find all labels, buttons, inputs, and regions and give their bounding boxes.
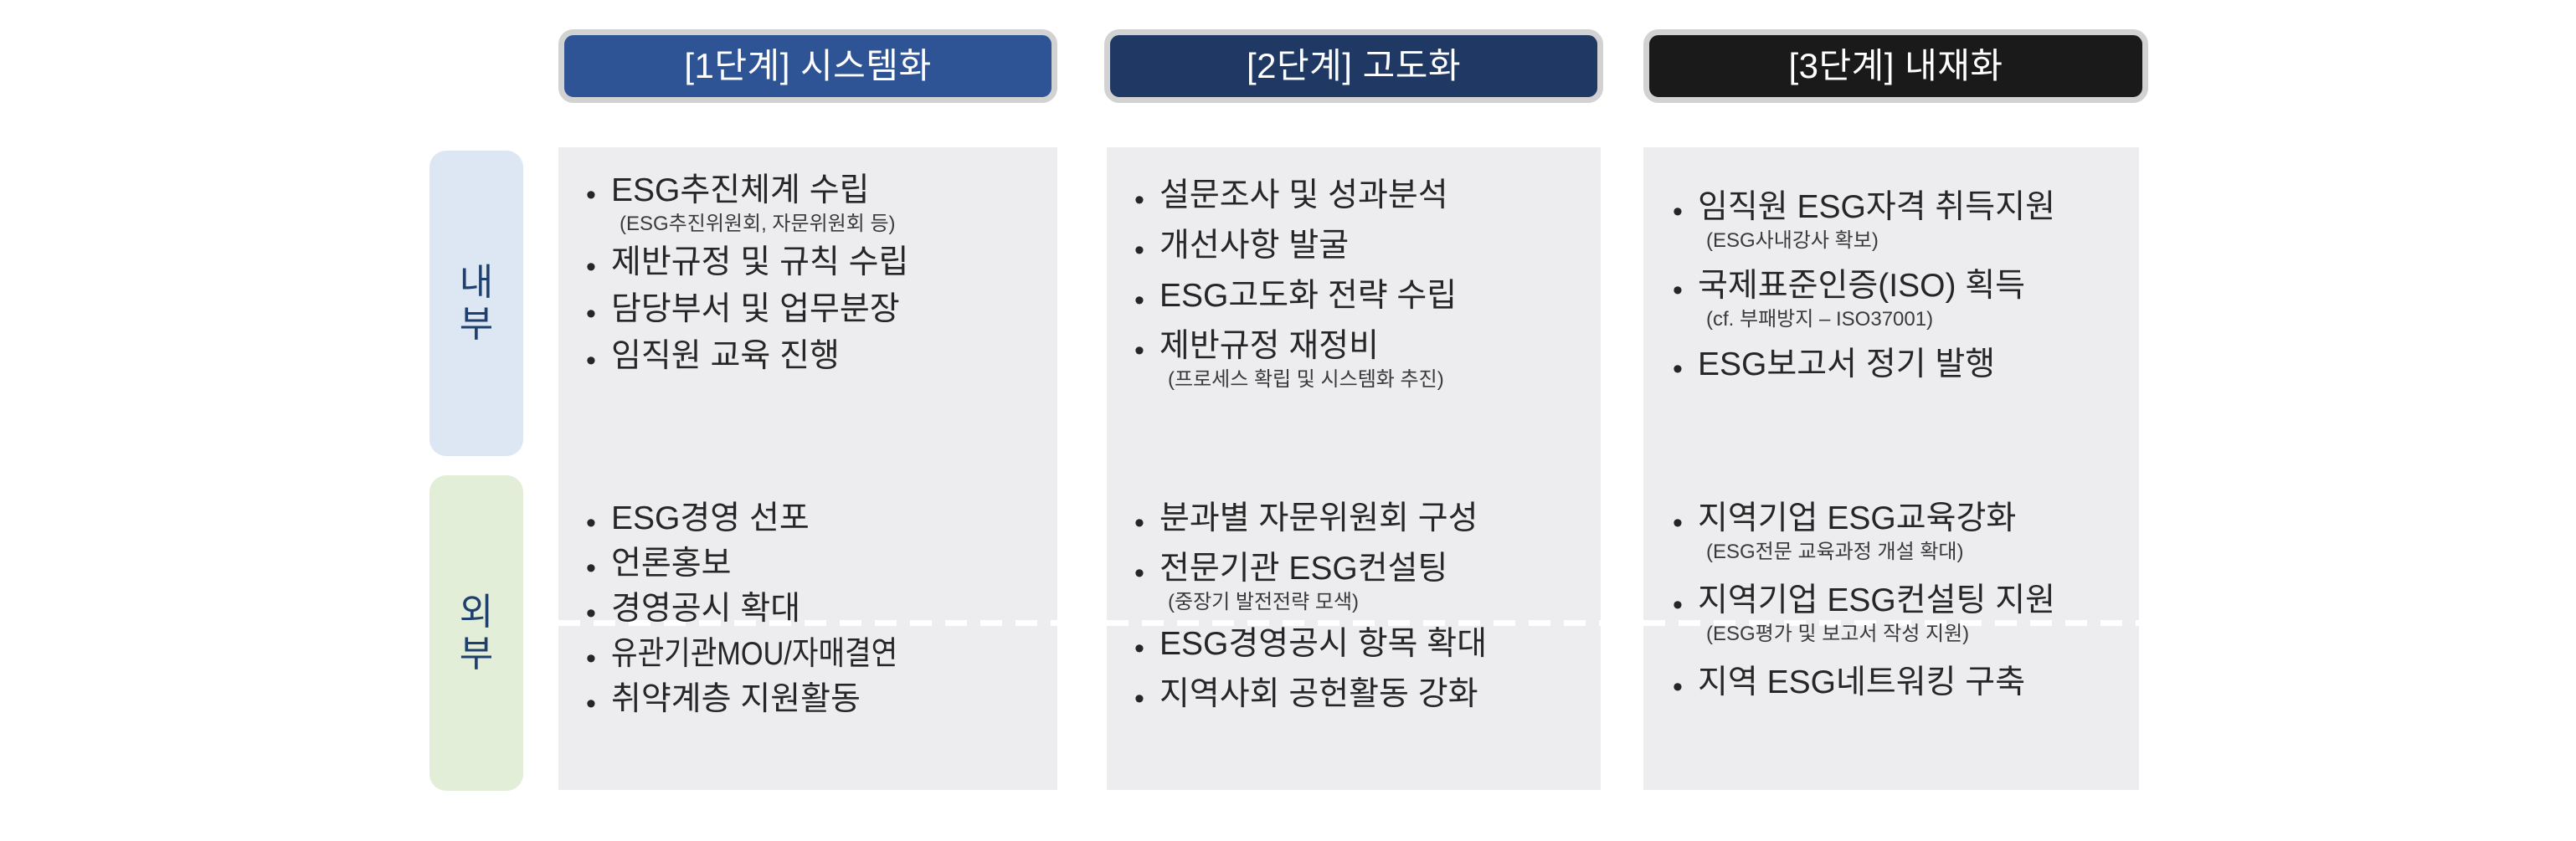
bullet-dot-icon: •	[586, 683, 611, 718]
bullet-note: (cf. 부패방지 – ISO37001)	[1706, 309, 2025, 330]
bullet-text: 전문기관 ESG컨설팅	[1159, 552, 1447, 587]
bullet-dot-icon: •	[586, 246, 611, 281]
bullet-text: 유관기관MOU/자매결연	[611, 638, 897, 672]
roadmap-diagram: [1단계] 시스템화 [2단계] 고도화 [3단계] 내재화 내 부 외 부 •…	[0, 0, 2576, 841]
bullet-item[interactable]: •제반규정 재정비(프로세스 확립 및 시스템화 추진)	[1134, 330, 1603, 390]
bullet-item[interactable]: •개선사항 발굴	[1134, 229, 1603, 264]
bullet-content: ESG보고서 정기 발행	[1698, 348, 1995, 382]
bullet-text: 취약계층 지원활동	[611, 683, 861, 717]
bullet-note: (ESG전문 교육과정 개설 확대)	[1706, 541, 2016, 562]
bullet-content: 제반규정 및 규칙 수립	[611, 246, 908, 280]
bullet-text: 분과별 자문위원회 구성	[1159, 502, 1478, 536]
stage-header-2[interactable]: [2단계] 고도화	[1104, 29, 1603, 103]
bullet-text: 언론홍보	[611, 547, 732, 582]
bullet-content: 언론홍보	[611, 547, 732, 582]
bullet-note: (ESG추진위원회, 자문위원회 등)	[620, 213, 896, 234]
bullet-item[interactable]: •설문조사 및 성과분석	[1134, 179, 1603, 214]
bullet-item[interactable]: •ESG경영공시 항목 확대	[1134, 628, 1603, 663]
row-label-internal-char-1: 내	[460, 262, 493, 303]
bullet-text: 국제표준인증(ISO) 획득	[1698, 269, 2025, 304]
bullets-stage1-internal: •ESG추진체계 수립(ESG추진위원회, 자문위원회 등)•제반규정 및 규칙…	[586, 174, 1055, 375]
bullet-text: 지역 ESG네트워킹 구축	[1698, 666, 2025, 700]
bullet-item[interactable]: •ESG추진체계 수립(ESG추진위원회, 자문위원회 등)	[586, 174, 1055, 234]
bullet-item[interactable]: •전문기관 ESG컨설팅(중장기 발전전략 모색)	[1134, 552, 1603, 613]
bullet-dot-icon: •	[1134, 628, 1159, 663]
bullet-text: 담당부서 및 업무분장	[611, 293, 900, 327]
bullet-content: 지역 ESG네트워킹 구축	[1698, 666, 2025, 700]
bullet-dot-icon: •	[1673, 348, 1698, 383]
bullet-content: 분과별 자문위원회 구성	[1159, 502, 1478, 536]
bullet-dot-icon: •	[1673, 502, 1698, 537]
bullet-item[interactable]: •ESG보고서 정기 발행	[1673, 348, 2150, 383]
bullet-item[interactable]: •지역사회 공헌활동 강화	[1134, 678, 1603, 713]
bullet-dot-icon: •	[586, 502, 611, 537]
bullet-item[interactable]: •지역기업 ESG컨설팅 지원(ESG평가 및 보고서 작성 지원)	[1673, 584, 2150, 644]
bullet-dot-icon: •	[586, 638, 611, 673]
bullet-content: ESG추진체계 수립(ESG추진위원회, 자문위원회 등)	[611, 174, 896, 234]
bullet-dot-icon: •	[1673, 584, 1698, 619]
bullet-item[interactable]: •국제표준인증(ISO) 획득(cf. 부패방지 – ISO37001)	[1673, 269, 2150, 330]
bullets-stage1-external: •ESG경영 선포•언론홍보•경영공시 확대•유관기관MOU/자매결연•취약계층…	[586, 502, 1055, 718]
bullet-note: (ESG사내강사 확보)	[1706, 230, 2055, 251]
bullet-dot-icon: •	[1134, 229, 1159, 264]
row-label-external-char-1: 외	[460, 592, 493, 633]
bullet-dot-icon: •	[586, 174, 611, 209]
bullet-content: 지역기업 ESG교육강화(ESG전문 교육과정 개설 확대)	[1698, 502, 2016, 562]
bullet-content: ESG경영 선포	[611, 502, 810, 536]
bullet-content: 임직원 교육 진행	[611, 340, 840, 374]
bullet-dot-icon: •	[1134, 552, 1159, 587]
bullet-dot-icon: •	[1134, 678, 1159, 713]
row-label-internal-char-2: 부	[460, 304, 493, 345]
bullet-content: 지역기업 ESG컨설팅 지원(ESG평가 및 보고서 작성 지원)	[1698, 584, 2055, 644]
bullet-note: (중장기 발전전략 모색)	[1168, 592, 1447, 613]
bullet-item[interactable]: •담당부서 및 업무분장	[586, 293, 1055, 328]
row-label-internal: 내 부	[429, 151, 523, 456]
bullet-dot-icon: •	[1134, 330, 1159, 365]
bullet-text: 경영공시 확대	[611, 592, 800, 627]
bullet-item[interactable]: •ESG경영 선포	[586, 502, 1055, 537]
bullet-content: 경영공시 확대	[611, 592, 800, 627]
bullet-item[interactable]: •지역기업 ESG교육강화(ESG전문 교육과정 개설 확대)	[1673, 502, 2150, 562]
bullet-dot-icon: •	[586, 293, 611, 328]
bullet-text: 설문조사 및 성과분석	[1159, 179, 1448, 213]
bullet-dot-icon: •	[1134, 502, 1159, 537]
stage-header-3-label: [3단계] 내재화	[1788, 49, 2003, 84]
bullet-item[interactable]: •경영공시 확대	[586, 592, 1055, 628]
bullet-note: (프로세스 확립 및 시스템화 추진)	[1168, 369, 1444, 390]
bullet-dot-icon: •	[586, 592, 611, 628]
bullet-content: ESG고도화 전략 수립	[1159, 279, 1457, 314]
stage-header-1-label: [1단계] 시스템화	[684, 49, 931, 84]
bullet-item[interactable]: •유관기관MOU/자매결연	[586, 638, 1055, 673]
bullet-dot-icon: •	[1134, 279, 1159, 315]
bullet-content: 개선사항 발굴	[1159, 229, 1349, 264]
row-label-external: 외 부	[429, 475, 523, 791]
bullet-text: ESG추진체계 수립	[611, 174, 896, 208]
bullet-item[interactable]: •언론홍보	[586, 547, 1055, 582]
stage-header-3[interactable]: [3단계] 내재화	[1643, 29, 2148, 103]
bullets-stage2-external: •분과별 자문위원회 구성•전문기관 ESG컨설팅(중장기 발전전략 모색)•E…	[1134, 502, 1603, 713]
bullet-dot-icon: •	[1673, 191, 1698, 226]
stage-header-1[interactable]: [1단계] 시스템화	[558, 29, 1057, 103]
bullet-item[interactable]: •제반규정 및 규칙 수립	[586, 246, 1055, 281]
bullet-text: 제반규정 재정비	[1159, 330, 1444, 364]
bullets-stage3-internal: •임직원 ESG자격 취득지원(ESG사내강사 확보)•국제표준인증(ISO) …	[1673, 191, 2150, 383]
bullet-dot-icon: •	[586, 547, 611, 582]
bullet-content: 유관기관MOU/자매결연	[611, 638, 937, 672]
bullet-item[interactable]: •임직원 ESG자격 취득지원(ESG사내강사 확보)	[1673, 191, 2150, 251]
bullet-text: 지역기업 ESG컨설팅 지원	[1698, 584, 2055, 618]
bullet-content: 설문조사 및 성과분석	[1159, 179, 1448, 213]
bullet-content: 전문기관 ESG컨설팅(중장기 발전전략 모색)	[1159, 552, 1447, 613]
bullet-content: 취약계층 지원활동	[611, 683, 861, 717]
bullet-note: (ESG평가 및 보고서 작성 지원)	[1706, 623, 2055, 644]
bullet-dot-icon: •	[586, 340, 611, 375]
bullets-stage3-external: •지역기업 ESG교육강화(ESG전문 교육과정 개설 확대)•지역기업 ESG…	[1673, 502, 2150, 701]
bullet-item[interactable]: •취약계층 지원활동	[586, 683, 1055, 718]
bullet-dot-icon: •	[1673, 666, 1698, 701]
bullet-text: ESG고도화 전략 수립	[1159, 279, 1457, 314]
bullet-text: 제반규정 및 규칙 수립	[611, 246, 908, 280]
bullet-text: ESG보고서 정기 발행	[1698, 348, 1995, 382]
row-label-external-char-2: 부	[460, 633, 493, 674]
bullet-content: 임직원 ESG자격 취득지원(ESG사내강사 확보)	[1698, 191, 2055, 251]
bullet-content: ESG경영공시 항목 확대	[1159, 628, 1487, 662]
bullet-item[interactable]: •분과별 자문위원회 구성	[1134, 502, 1603, 537]
bullet-dot-icon: •	[1673, 269, 1698, 305]
bullet-content: 제반규정 재정비(프로세스 확립 및 시스템화 추진)	[1159, 330, 1444, 390]
bullet-item[interactable]: •임직원 교육 진행	[586, 340, 1055, 375]
bullet-item[interactable]: •지역 ESG네트워킹 구축	[1673, 666, 2150, 701]
bullet-dot-icon: •	[1134, 179, 1159, 214]
bullet-text: ESG경영공시 항목 확대	[1159, 628, 1487, 662]
bullet-text: ESG경영 선포	[611, 502, 810, 536]
bullet-text: 임직원 교육 진행	[611, 340, 840, 374]
bullet-text: 임직원 ESG자격 취득지원	[1698, 191, 2055, 225]
bullets-stage2-internal: •설문조사 및 성과분석•개선사항 발굴•ESG고도화 전략 수립•제반규정 재…	[1134, 179, 1603, 390]
bullet-item[interactable]: •ESG고도화 전략 수립	[1134, 279, 1603, 315]
bullet-text: 지역사회 공헌활동 강화	[1159, 678, 1478, 712]
bullet-text: 개선사항 발굴	[1159, 229, 1349, 264]
bullet-content: 지역사회 공헌활동 강화	[1159, 678, 1478, 712]
bullet-content: 담당부서 및 업무분장	[611, 293, 900, 327]
stage-header-2-label: [2단계] 고도화	[1247, 49, 1461, 84]
bullet-text: 지역기업 ESG교육강화	[1698, 502, 2016, 536]
bullet-content: 국제표준인증(ISO) 획득(cf. 부패방지 – ISO37001)	[1698, 269, 2025, 330]
